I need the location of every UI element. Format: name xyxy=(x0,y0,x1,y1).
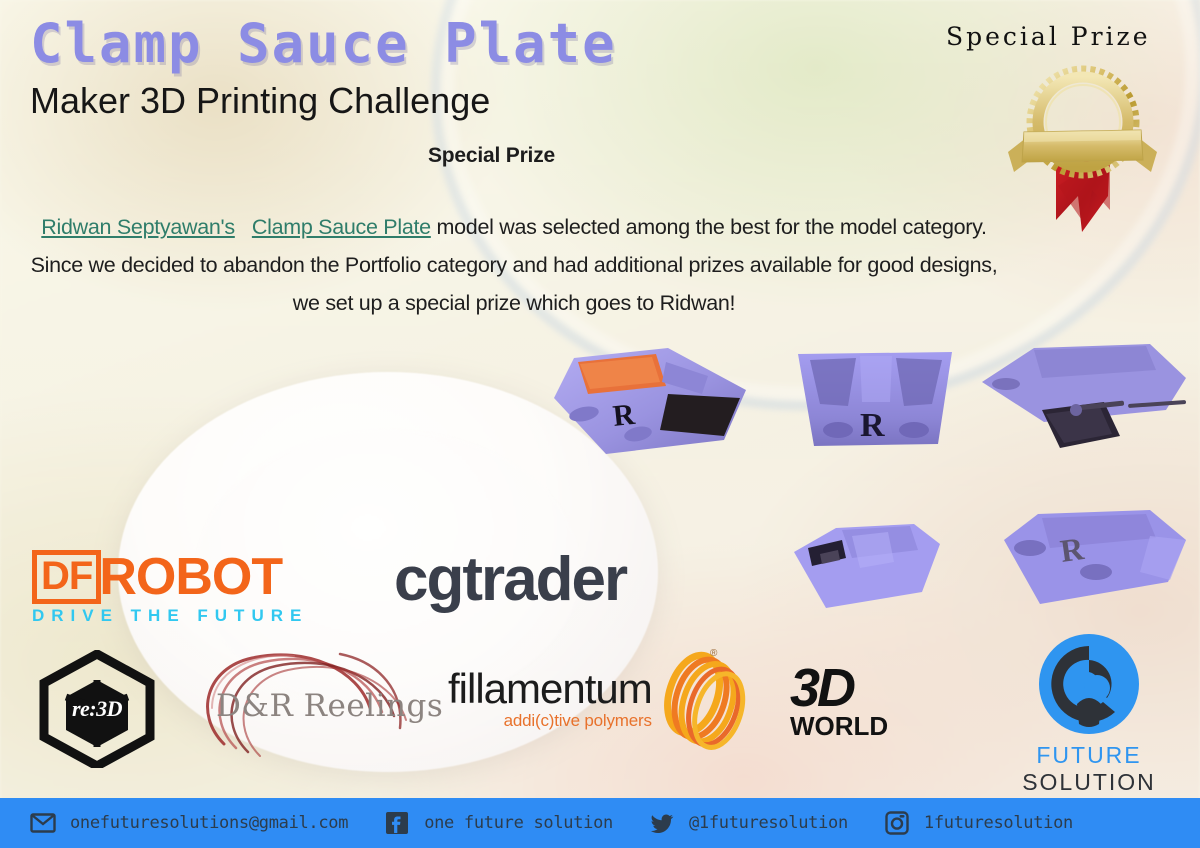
fillamentum-tagline: addi(c)tive polymers xyxy=(448,711,652,731)
page-title: Clamp Sauce Plate xyxy=(30,12,617,75)
award-ribbon-icon xyxy=(1000,60,1165,235)
future-solution-word-2: SOLUTION xyxy=(1022,769,1156,795)
cgtrader-word-1: cg xyxy=(394,545,462,614)
facebook-icon xyxy=(384,810,410,836)
twitter-icon xyxy=(649,810,675,836)
fillamentum-word: fillamentum xyxy=(448,668,652,710)
envelope-icon xyxy=(30,810,56,836)
future-solution-word-1: FUTURE xyxy=(1036,742,1141,768)
model-render-clip xyxy=(790,514,960,618)
world3d-line-1: 3D xyxy=(790,664,900,712)
footer-item-twitter[interactable]: @1futuresolution xyxy=(649,810,848,836)
award-badge xyxy=(1000,60,1165,235)
page-subtitle: Maker 3D Printing Challenge xyxy=(30,80,490,122)
poster-canvas: Clamp Sauce Plate Maker 3D Printing Chal… xyxy=(0,0,1200,848)
logo-future-solution[interactable]: FUTURE SOLUTION xyxy=(1000,632,1178,782)
logo-dfrobot[interactable]: DF ROBOT DRIVE THE FUTURE xyxy=(32,550,308,626)
cgtrader-word-2: trader xyxy=(462,545,626,614)
model-render-exploded xyxy=(980,340,1192,460)
dfrobot-tagline: DRIVE THE FUTURE xyxy=(32,606,308,626)
model-render-front: R xyxy=(790,344,960,456)
prize-tagline: Special Prize xyxy=(428,144,555,168)
award-label: Special Prize xyxy=(946,22,1151,51)
logo-3d-world[interactable]: 3D WORLD xyxy=(790,664,900,760)
footer-item-instagram[interactable]: 1futuresolution xyxy=(884,810,1073,836)
dnr-label: D&R Reelings xyxy=(216,688,443,724)
instagram-icon xyxy=(884,810,910,836)
footer-contact-bar: onefuturesolutions@gmail.com one future … xyxy=(0,798,1200,848)
footer-item-email[interactable]: onefuturesolutions@gmail.com xyxy=(30,810,348,836)
svg-text:R: R xyxy=(860,407,885,444)
model-render-angle: R xyxy=(1000,506,1192,618)
logo-re3d[interactable]: re:3D xyxy=(38,650,156,768)
model-link[interactable]: Clamp Sauce Plate xyxy=(252,215,431,239)
footer-instagram-label: 1futuresolution xyxy=(924,813,1073,833)
body-copy: Ridwan Septyawan's Clamp Sauce Plate mod… xyxy=(24,208,1004,322)
dfrobot-word: ROBOT xyxy=(99,554,282,600)
footer-twitter-label: @1futuresolution xyxy=(689,813,848,833)
world3d-line-2: WORLD xyxy=(790,713,900,739)
spacer xyxy=(241,215,247,239)
footer-email-label: onefuturesolutions@gmail.com xyxy=(70,813,348,833)
footer-item-facebook[interactable]: one future solution xyxy=(384,810,613,836)
author-link[interactable]: Ridwan Septyawan's xyxy=(41,215,235,239)
logo-cgtrader[interactable]: cgtrader xyxy=(394,544,626,615)
fillamentum-registered: ® xyxy=(710,648,717,659)
future-solution-mark-icon xyxy=(1037,632,1141,736)
footer-facebook-label: one future solution xyxy=(424,813,613,833)
fillamentum-coil-icon xyxy=(648,646,750,754)
dfrobot-mark: DF xyxy=(32,550,101,604)
logo-dnr-reelings[interactable]: D&R Reelings xyxy=(190,648,440,760)
re3d-label: re:3D xyxy=(38,696,156,722)
model-render-filled: R xyxy=(548,342,754,460)
svg-text:R: R xyxy=(611,398,636,433)
logo-fillamentum[interactable]: fillamentum addi(c)tive polymers ® xyxy=(448,668,652,731)
